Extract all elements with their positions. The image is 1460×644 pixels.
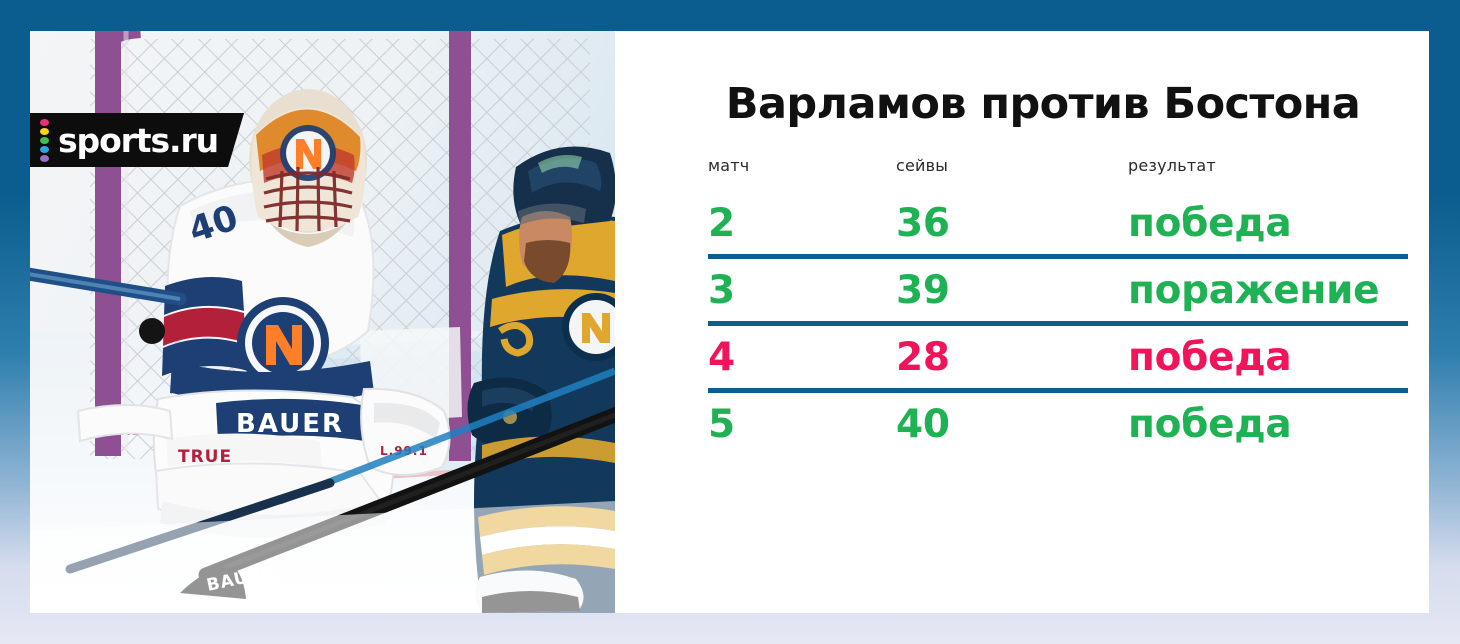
logo-dot-blue (40, 146, 49, 153)
cell-result: победа (1128, 201, 1410, 246)
cell-saves: 36 (896, 201, 1128, 246)
logo-dots (40, 119, 49, 162)
logo-dot-green (40, 137, 49, 144)
logo-text: sports.ru (58, 124, 218, 157)
stats-table: матч сейвы результат 2 36 победа 3 39 по… (708, 156, 1410, 455)
stats-panel: Варламов против Бостона матч сейвы резул… (618, 31, 1429, 613)
table-header-row: матч сейвы результат (708, 156, 1410, 192)
sports-ru-logo[interactable]: sports.ru (30, 113, 244, 167)
column-header-result: результат (1128, 156, 1410, 175)
table-row: 3 39 поражение (708, 259, 1410, 321)
cell-result: победа (1128, 402, 1410, 447)
table-row: 4 28 победа (708, 326, 1410, 388)
cell-match: 4 (708, 335, 896, 380)
cell-match: 2 (708, 201, 896, 246)
cell-match: 5 (708, 402, 896, 447)
cell-saves: 28 (896, 335, 1128, 380)
cell-match: 3 (708, 268, 896, 313)
cell-saves: 39 (896, 268, 1128, 313)
table-row: 2 36 победа (708, 192, 1410, 254)
column-header-match: матч (708, 156, 896, 175)
logo-dot-yellow (40, 128, 49, 135)
cell-result: победа (1128, 335, 1410, 380)
logo-dot-pink (40, 119, 49, 126)
logo-dot-purple (40, 155, 49, 162)
cell-result: поражение (1128, 268, 1410, 313)
table-row: 5 40 победа (708, 393, 1410, 455)
page-title: Варламов против Бостона (678, 79, 1408, 129)
infographic-card: 40 (30, 31, 1429, 613)
cell-saves: 40 (896, 402, 1128, 447)
column-header-saves: сейвы (896, 156, 1128, 175)
